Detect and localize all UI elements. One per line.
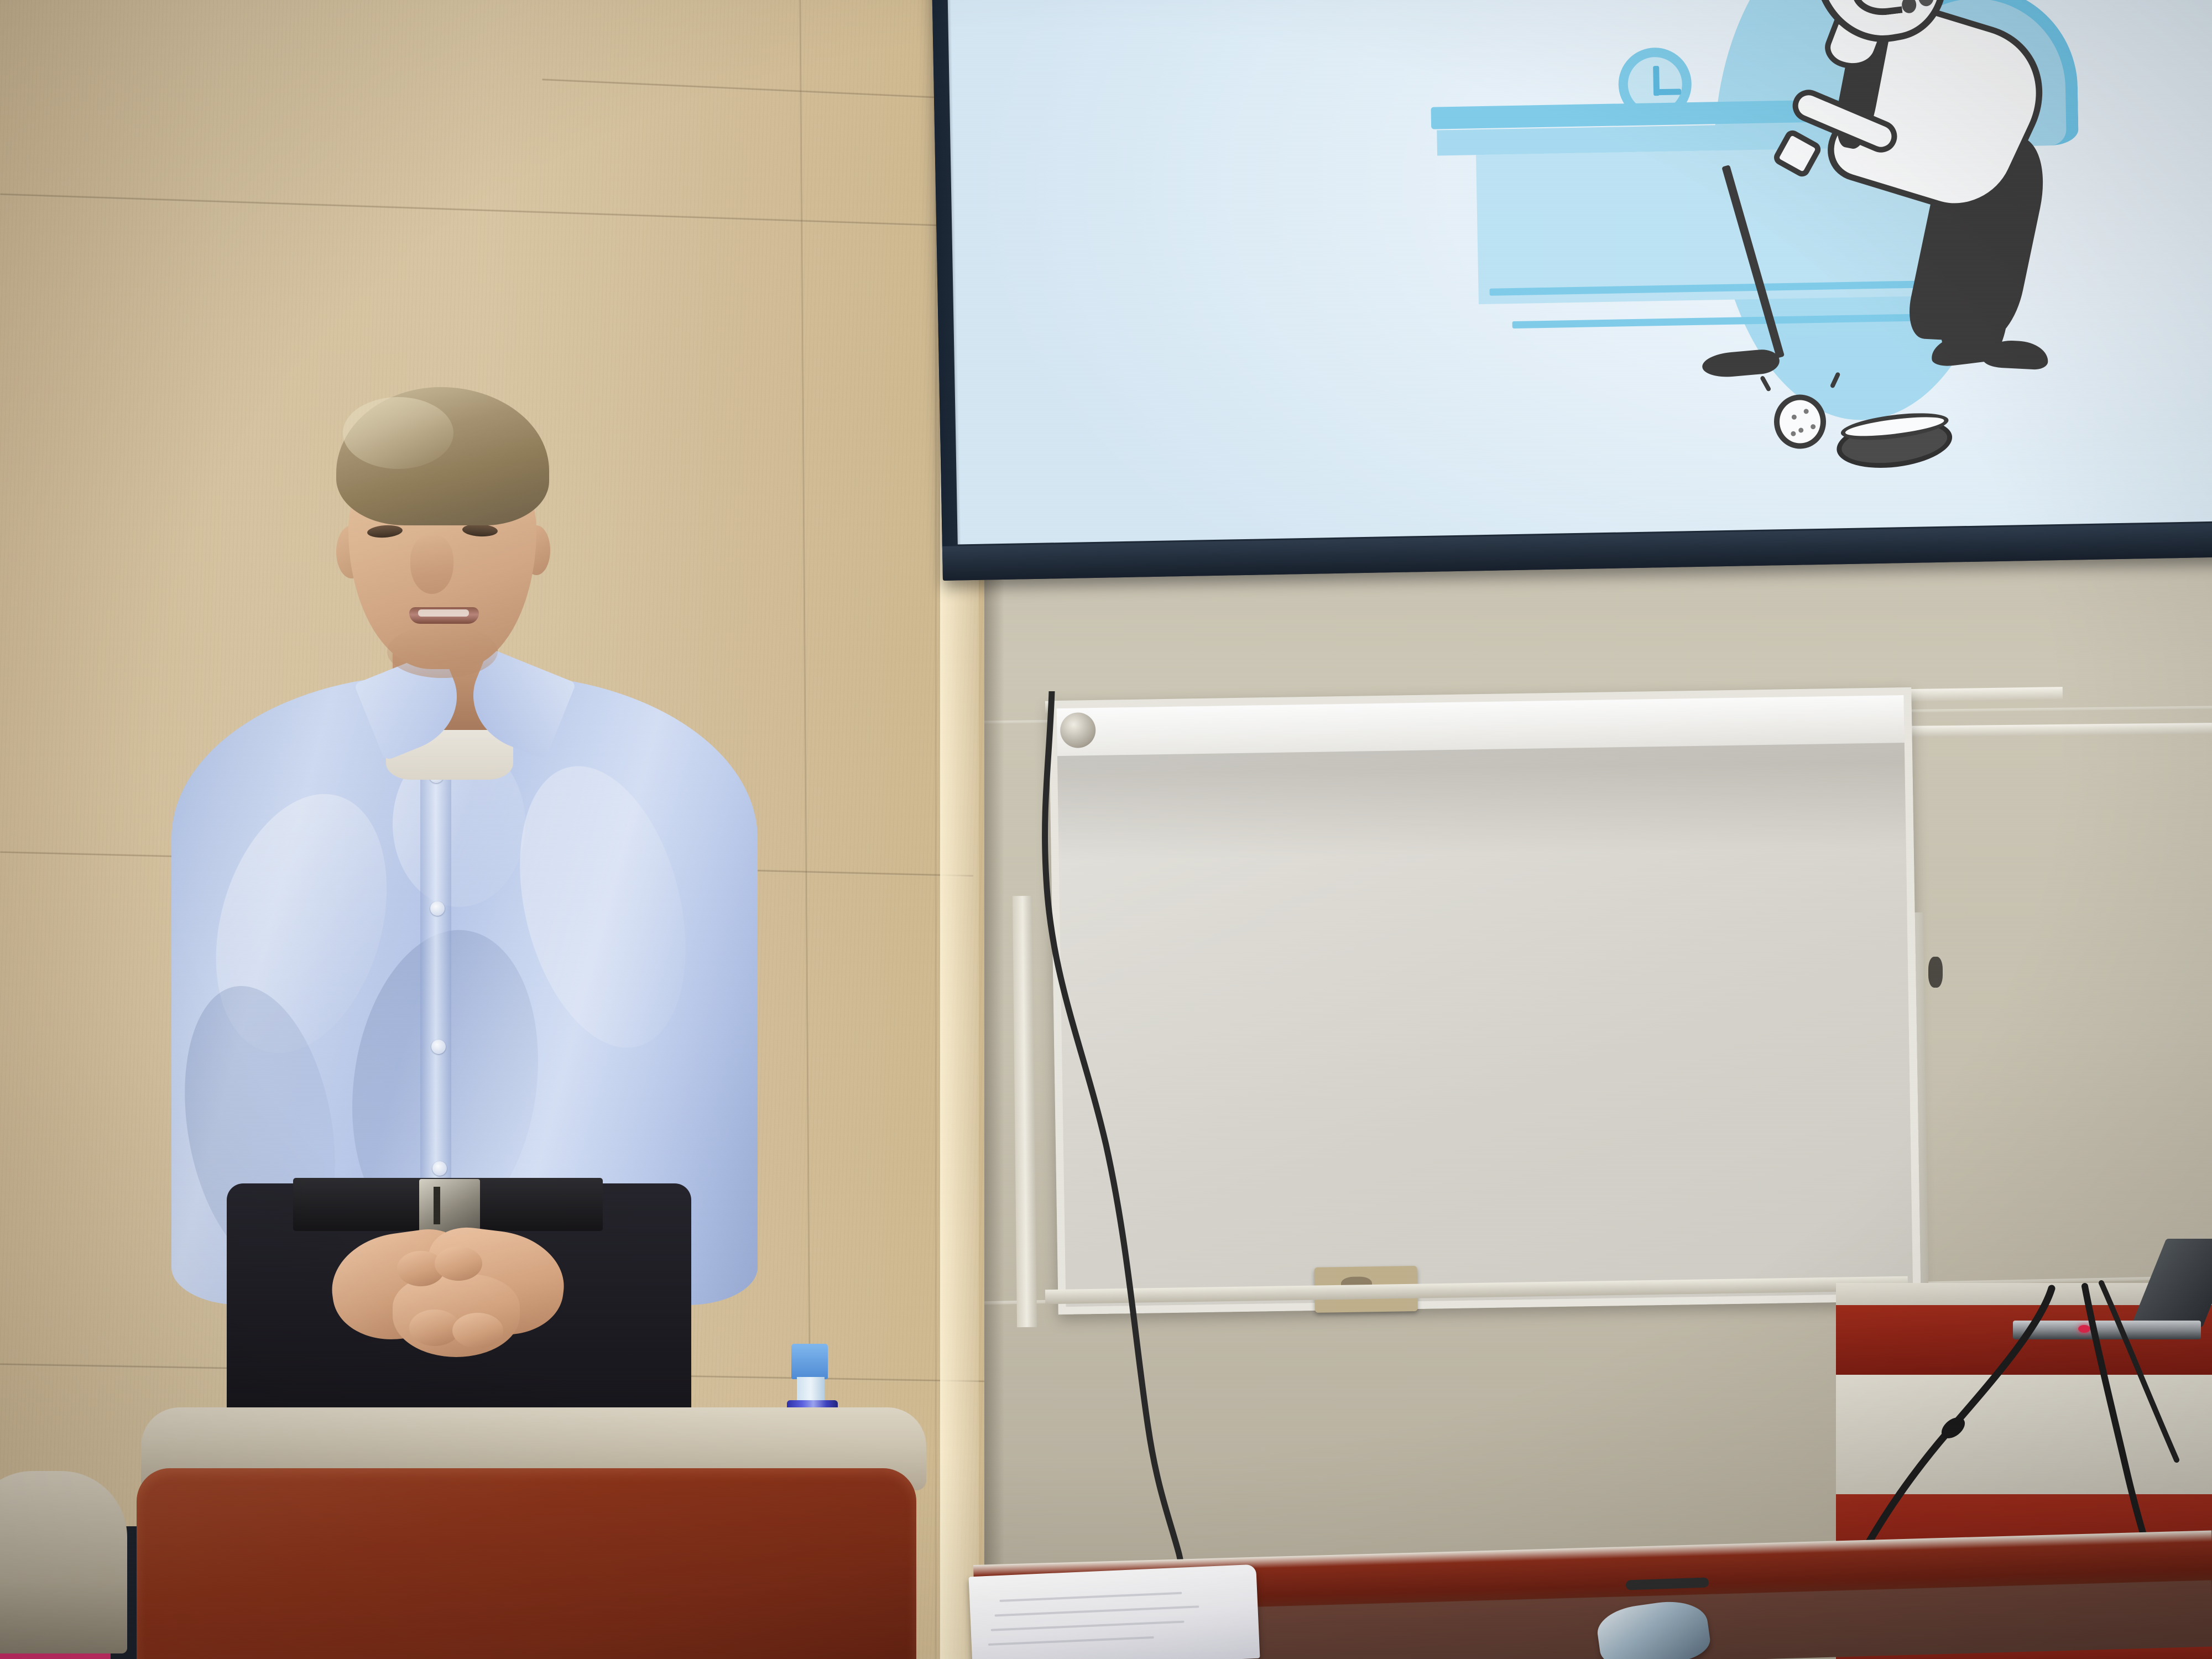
shirt-button (432, 1161, 447, 1176)
bottle-cap (791, 1344, 828, 1379)
projection-screen[interactable] (931, 0, 2212, 581)
slide-clipart-office-golf (1610, 0, 2117, 463)
whiteboard-rail-knob[interactable] (1928, 957, 1943, 988)
photo-scene: Conference room presentation Meeting roo… (0, 0, 2212, 1659)
av-cable (1040, 691, 1239, 1598)
golf-ball-icon (1773, 394, 1827, 450)
document-stack[interactable] (969, 1564, 1260, 1659)
shirt-button (431, 1040, 446, 1054)
chair-left-cushion (0, 1471, 127, 1653)
shirt-button (430, 901, 445, 916)
clasped-hands (326, 1217, 586, 1399)
projection-screen-surface (947, 0, 2212, 544)
chair-foreground[interactable] (141, 1407, 976, 1659)
chair-left[interactable] (0, 1471, 133, 1659)
nose (410, 535, 453, 594)
chair-wood-back (137, 1468, 916, 1659)
